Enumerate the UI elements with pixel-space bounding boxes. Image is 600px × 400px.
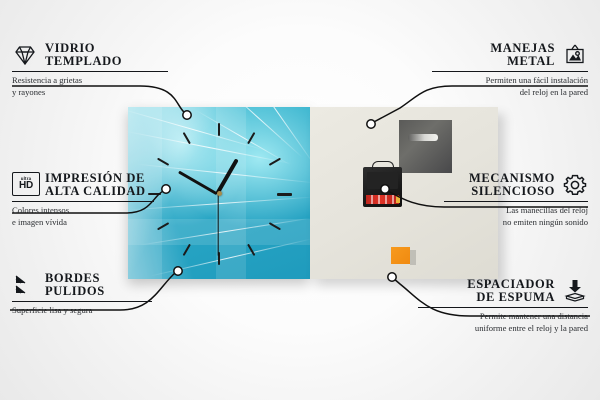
feature-title: MECANISMO SILENCIOSO xyxy=(469,172,555,198)
connector-dot-manejas xyxy=(367,120,375,128)
feature-description: Permiten una fácil instalación del reloj… xyxy=(432,75,588,98)
title-rule xyxy=(12,301,152,302)
diamond-icon xyxy=(12,42,38,68)
picture-frame-icon xyxy=(562,42,588,68)
feature-bordes-pulidos: BORDES PULIDOS Superficie lisa y segura xyxy=(12,272,152,317)
connector-dot-bordes xyxy=(174,267,182,275)
feature-espaciador-espuma: ESPACIADOR DE ESPUMA Permite mantener un… xyxy=(418,278,588,334)
feature-title: VIDRIO TEMPLADO xyxy=(45,42,122,68)
foam-spacer-icon xyxy=(562,278,588,304)
connector-dot-impresion xyxy=(162,185,170,193)
feature-title: BORDES PULIDOS xyxy=(45,272,105,298)
connector-dot-mecanismo xyxy=(381,185,389,193)
title-rule xyxy=(12,201,154,202)
title-rule xyxy=(12,71,168,72)
feature-description: Permite mantener una distancia uniforme … xyxy=(418,311,588,334)
title-rule xyxy=(444,201,588,202)
title-rule xyxy=(432,71,588,72)
feature-title: ESPACIADOR DE ESPUMA xyxy=(467,278,555,304)
feature-description: Resistencia a grietas y rayones xyxy=(12,75,168,98)
feature-description: Superficie lisa y segura xyxy=(12,305,152,316)
ultra-hd-icon: ultra HD xyxy=(12,172,38,198)
feature-description: Las manecillas del reloj no emiten ningú… xyxy=(444,205,588,228)
gear-icon xyxy=(562,172,588,198)
polished-edges-icon xyxy=(12,272,38,298)
feature-mecanismo-silencioso: MECANISMO SILENCIOSO Las manecillas del … xyxy=(444,172,588,228)
infographic-canvas: VIDRIO TEMPLADO Resistencia a grietas y … xyxy=(0,0,600,400)
feature-manejas-metal: MANEJAS METAL Permiten una fácil instala… xyxy=(432,42,588,98)
connector-dot-espaciador xyxy=(388,273,396,281)
title-rule xyxy=(418,307,588,308)
feature-vidrio-templado: VIDRIO TEMPLADO Resistencia a grietas y … xyxy=(12,42,168,98)
feature-description: Colores intensos e imagen vívida xyxy=(12,205,154,228)
feature-title: MANEJAS METAL xyxy=(490,42,555,68)
connector-dot-vidrio-templado xyxy=(183,111,191,119)
feature-title: IMPRESIÓN DE ALTA CALIDAD xyxy=(45,172,146,198)
feature-impresion-alta-calidad: ultra HD IMPRESIÓN DE ALTA CALIDAD Color… xyxy=(12,172,154,228)
